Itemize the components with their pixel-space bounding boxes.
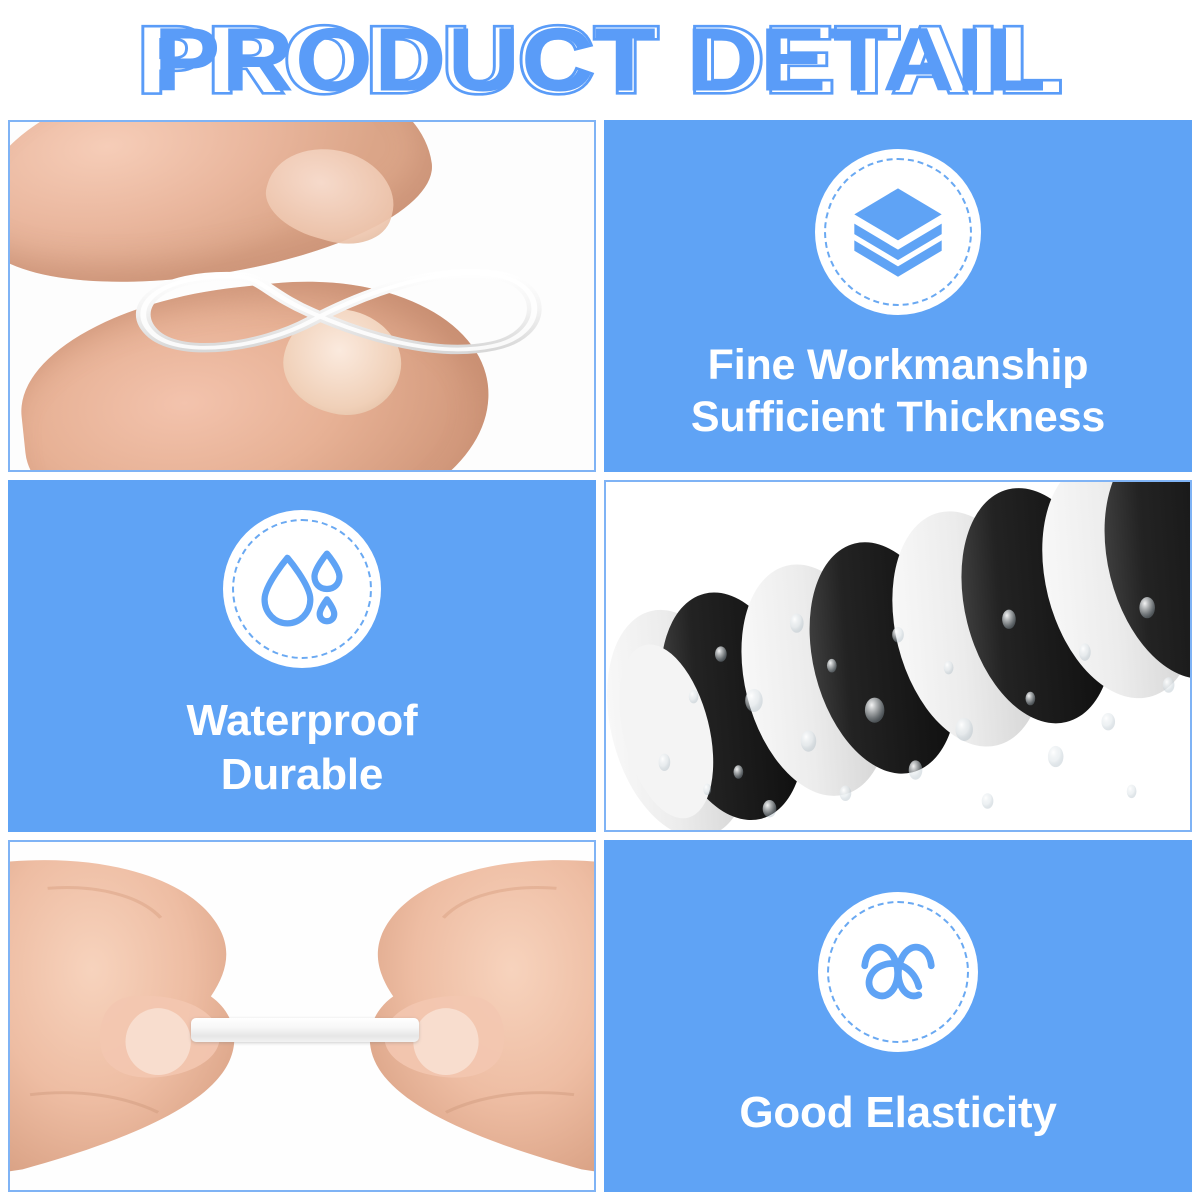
photo-wet-rings	[606, 482, 1190, 830]
elastic-wave-icon	[846, 920, 950, 1024]
stacked-silicone-rings	[606, 482, 1190, 830]
page-title: PRODUCT DETAIL PRODUCT DETAIL PRODUCT DE…	[137, 13, 1063, 106]
ring-group	[606, 482, 1190, 830]
icon-badge-waterproof	[223, 510, 381, 668]
page-title-fill-layer: PRODUCT DETAIL	[153, 15, 1047, 105]
photo-stretching-band	[10, 842, 594, 1190]
silicone-band-loop	[115, 247, 547, 372]
product-detail-infographic: PRODUCT DETAIL PRODUCT DETAIL PRODUCT DE…	[0, 0, 1200, 1200]
photo-pinched-band	[10, 122, 594, 470]
feature-grid: Fine Workmanship Sufficient Thickness Wa…	[8, 120, 1192, 1192]
hand-left	[10, 849, 261, 1183]
icon-badge-workmanship	[815, 149, 981, 315]
panel-photo-wet-rings	[604, 480, 1192, 832]
panel-feature-workmanship: Fine Workmanship Sufficient Thickness	[604, 120, 1192, 472]
panel-feature-waterproof: Waterproof Durable	[8, 480, 596, 832]
feature-elasticity-line1: Good Elasticity	[739, 1088, 1056, 1137]
feature-waterproof-line1: Waterproof	[186, 696, 417, 745]
feature-elasticity-text: Good Elasticity	[727, 1086, 1068, 1140]
page-title-container: PRODUCT DETAIL PRODUCT DETAIL PRODUCT DE…	[0, 0, 1200, 120]
feature-workmanship-line1: Fine Workmanship	[708, 341, 1089, 389]
feature-waterproof-line2: Durable	[186, 748, 417, 802]
feature-waterproof-text: Waterproof Durable	[174, 694, 429, 801]
panel-photo-pinch	[8, 120, 596, 472]
stretched-silicone-band	[191, 1018, 419, 1042]
feature-workmanship-line2: Sufficient Thickness	[691, 391, 1105, 443]
feature-workmanship-text: Fine Workmanship Sufficient Thickness	[679, 339, 1117, 444]
icon-badge-elasticity	[818, 892, 978, 1052]
panel-photo-stretch	[8, 840, 596, 1192]
panel-feature-elasticity: Good Elasticity	[604, 840, 1192, 1192]
layers-stack-icon	[846, 180, 950, 284]
hand-right	[343, 849, 594, 1183]
water-droplets-icon	[250, 537, 354, 641]
